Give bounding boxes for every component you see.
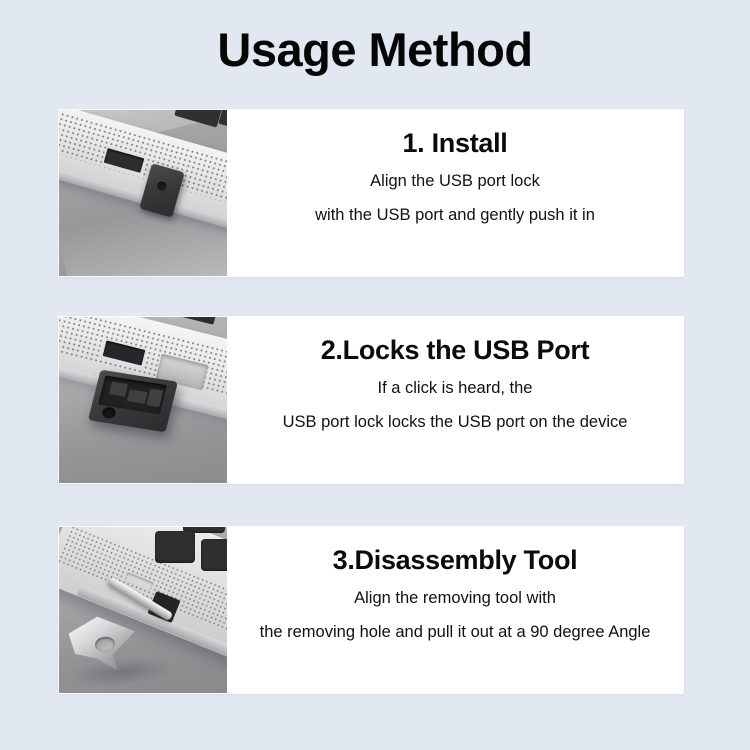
- keycap: [201, 539, 227, 571]
- step-2-heading: 2.Locks the USB Port: [321, 336, 590, 366]
- lock-removal-hole: [101, 406, 117, 419]
- step-1-line-1: Align the USB port lock: [315, 173, 595, 190]
- removal-tool-head: [64, 611, 142, 676]
- step-1-line-2: with the USB port and gently push it in: [315, 207, 595, 224]
- step-2-photo: [59, 317, 227, 483]
- step-card-1: 1. Install Align the USB port lock with …: [59, 110, 683, 276]
- step-3-line-1: Align the removing tool with: [260, 590, 651, 607]
- step-3-text-panel: 3.Disassembly Tool Align the removing to…: [227, 527, 683, 693]
- lock-tab: [146, 389, 163, 408]
- page-title: Usage Method: [0, 26, 750, 73]
- step-1-description: Align the USB port lock with the USB por…: [315, 173, 595, 224]
- lock-tab: [127, 389, 148, 403]
- step-1-text-panel: 1. Install Align the USB port lock with …: [227, 110, 683, 276]
- step-3-photo: [59, 527, 227, 693]
- step-card-2: 2.Locks the USB Port If a click is heard…: [59, 317, 683, 483]
- step-2-text-panel: 2.Locks the USB Port If a click is heard…: [227, 317, 683, 483]
- step-2-description: If a click is heard, the USB port lock l…: [283, 380, 628, 431]
- step-card-3: 3.Disassembly Tool Align the removing to…: [59, 527, 683, 693]
- keycap: [155, 531, 195, 563]
- step-3-description: Align the removing tool with the removin…: [260, 590, 651, 641]
- lock-tab: [109, 382, 128, 397]
- step-3-heading: 3.Disassembly Tool: [333, 546, 578, 576]
- step-2-line-2: USB port lock locks the USB port on the …: [283, 414, 628, 431]
- step-2-line-1: If a click is heard, the: [283, 380, 628, 397]
- step-3-line-2: the removing hole and pull it out at a 9…: [260, 624, 651, 641]
- step-1-photo: [59, 110, 227, 276]
- step-1-heading: 1. Install: [402, 129, 507, 159]
